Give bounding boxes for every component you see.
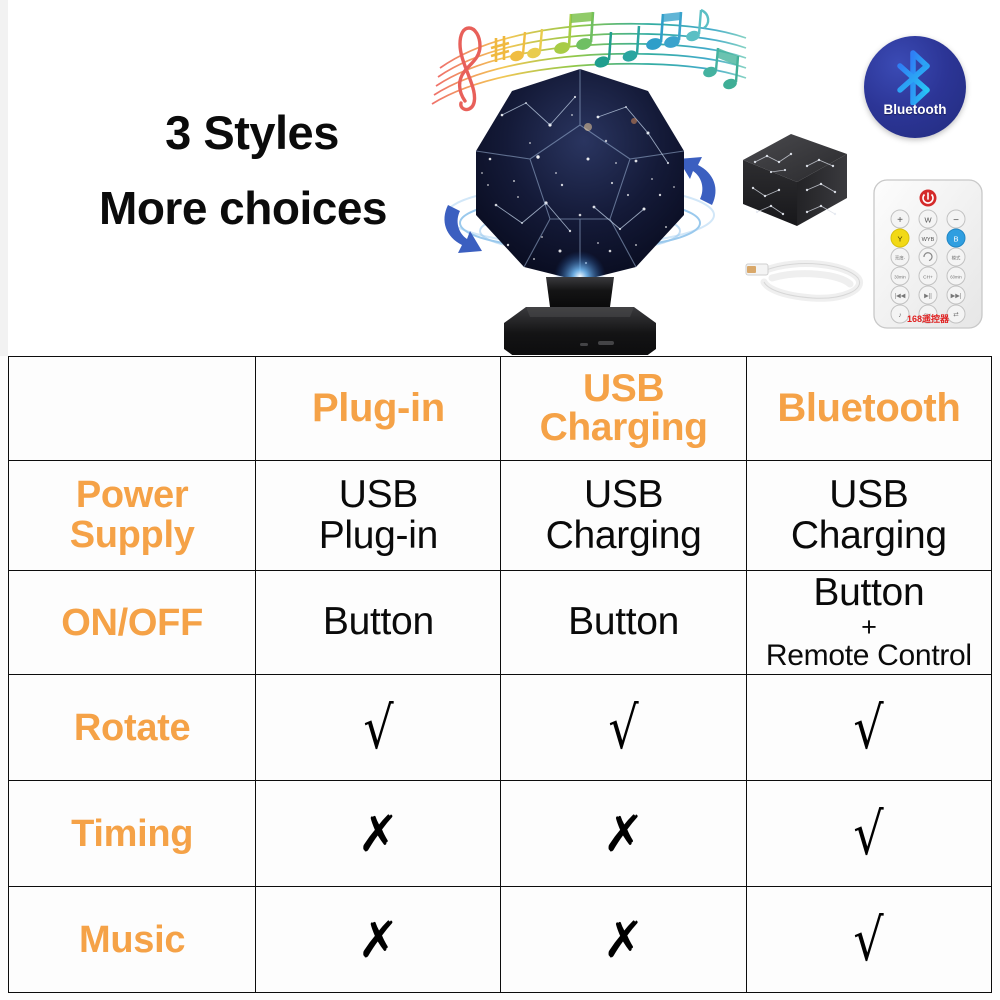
headline-line-2: More choices — [28, 185, 458, 232]
cell-timing-bluetooth: √ — [746, 781, 991, 887]
table-row-power-supply: Power Supply USB Plug-in USB Charging — [9, 461, 992, 571]
row-label-on-off-text: ON/OFF — [9, 604, 255, 642]
svg-text:WYB: WYB — [922, 237, 935, 243]
column-header-usb-line2: Charging — [540, 406, 708, 449]
remote-brand-text: 168遥控器 — [872, 312, 984, 325]
row-label-music: Music — [9, 887, 256, 993]
constellation-gift-box — [735, 126, 853, 234]
svg-text:▶▶|: ▶▶| — [951, 294, 962, 300]
cell-on-off-bluetooth: Button + Remote Control — [746, 571, 991, 675]
check-mark-rotate-bluetooth: √ — [854, 699, 884, 757]
bluetooth-badge-label: Bluetooth — [864, 102, 966, 117]
svg-text:亮度-: 亮度- — [895, 255, 906, 262]
column-header-plugin: Plug-in — [256, 357, 501, 461]
cell-timing-plugin: ✗ — [256, 781, 501, 887]
svg-text:Y: Y — [897, 235, 902, 244]
row-label-on-off: ON/OFF — [9, 571, 256, 675]
svg-text:▶||: ▶|| — [924, 294, 932, 300]
cell-power-supply-usb-line2: Charging — [546, 514, 702, 557]
row-label-power-supply-line2: Supply — [70, 514, 195, 556]
cell-on-off-usb: Button — [501, 571, 746, 675]
table-row-rotate: Rotate √ √ √ — [9, 675, 992, 781]
remote-control[interactable]: + W − Y WYB B 亮度- — [872, 178, 984, 330]
row-label-music-text: Music — [9, 921, 255, 959]
cell-on-off-usb-text: Button — [501, 602, 745, 643]
svg-text:B: B — [953, 235, 958, 244]
cell-power-supply-plugin-line1: USB — [339, 473, 418, 516]
cell-power-supply-usb: USB Charging — [501, 461, 746, 571]
svg-text:60min: 60min — [950, 274, 962, 279]
row-label-power-supply: Power Supply — [9, 461, 256, 571]
bluetooth-icon — [891, 49, 939, 110]
cell-power-supply-plugin-line2: Plug-in — [319, 514, 438, 557]
comparison-table: Plug-in USB Charging Bluetooth Power — [8, 356, 992, 993]
cell-rotate-plugin: √ — [256, 675, 501, 781]
cell-rotate-usb: √ — [501, 675, 746, 781]
table-row-on-off: ON/OFF Button Button Button + Remote Con… — [9, 571, 992, 675]
check-mark-rotate-usb: √ — [608, 699, 638, 757]
svg-text:模式: 模式 — [952, 255, 961, 262]
cell-timing-usb: ✗ — [501, 781, 746, 887]
cell-music-plugin: ✗ — [256, 887, 501, 993]
column-header-bluetooth: Bluetooth — [746, 357, 991, 461]
table-corner-cell — [9, 357, 256, 461]
column-header-usb: USB Charging — [501, 357, 746, 461]
cell-music-usb: ✗ — [501, 887, 746, 993]
check-mark-rotate-plugin: √ — [363, 699, 393, 757]
svg-text:|◀◀: |◀◀ — [895, 294, 906, 300]
usb-cable — [742, 248, 872, 310]
cross-mark-timing-usb: ✗ — [603, 809, 645, 859]
infographic-page: 3 Styles More choices — [0, 0, 1000, 1000]
svg-text:W: W — [924, 216, 932, 225]
column-header-usb-line1: USB — [583, 367, 664, 410]
cell-on-off-bluetooth-line1: Button — [813, 571, 924, 614]
cell-power-supply-usb-line1: USB — [584, 473, 663, 516]
cell-rotate-bluetooth: √ — [746, 675, 991, 781]
row-label-timing-text: Timing — [9, 815, 255, 853]
cross-mark-music-usb: ✗ — [603, 915, 645, 965]
hero-left-edge — [0, 0, 8, 356]
svg-text:30min: 30min — [894, 274, 906, 279]
column-header-bluetooth-label: Bluetooth — [747, 389, 991, 429]
row-label-rotate: Rotate — [9, 675, 256, 781]
svg-text:CH+: CH+ — [923, 274, 933, 280]
cell-on-off-plugin: Button — [256, 571, 501, 675]
row-label-rotate-text: Rotate — [9, 709, 255, 747]
table-row-music: Music ✗ ✗ √ — [9, 887, 992, 993]
cell-power-supply-bluetooth-line2: Charging — [791, 514, 947, 557]
cross-mark-timing-plugin: ✗ — [357, 809, 399, 859]
star-projector-lamp — [430, 55, 730, 355]
cell-power-supply-bluetooth-line1: USB — [829, 473, 908, 516]
check-mark-music-bluetooth: √ — [854, 911, 884, 969]
table-header-row: Plug-in USB Charging Bluetooth — [9, 357, 992, 461]
cell-power-supply-plugin: USB Plug-in — [256, 461, 501, 571]
hero-section: 3 Styles More choices — [0, 0, 1000, 356]
row-label-timing: Timing — [9, 781, 256, 887]
row-label-power-supply-line1: Power — [76, 474, 189, 516]
check-mark-timing-bluetooth: √ — [854, 805, 884, 863]
cell-on-off-bluetooth-line3: Remote Control — [747, 641, 991, 672]
cell-music-bluetooth: √ — [746, 887, 991, 993]
svg-text:+: + — [897, 215, 903, 226]
cell-on-off-bluetooth-plus: + — [747, 614, 991, 641]
table-row-timing: Timing ✗ ✗ √ — [9, 781, 992, 887]
cross-mark-music-plugin: ✗ — [357, 915, 399, 965]
cell-on-off-plugin-text: Button — [256, 602, 500, 643]
column-header-plugin-label: Plug-in — [256, 389, 500, 429]
bluetooth-badge: Bluetooth — [864, 36, 966, 138]
cell-power-supply-bluetooth: USB Charging — [746, 461, 991, 571]
headline-line-1: 3 Styles — [52, 109, 452, 157]
svg-text:−: − — [953, 215, 959, 226]
